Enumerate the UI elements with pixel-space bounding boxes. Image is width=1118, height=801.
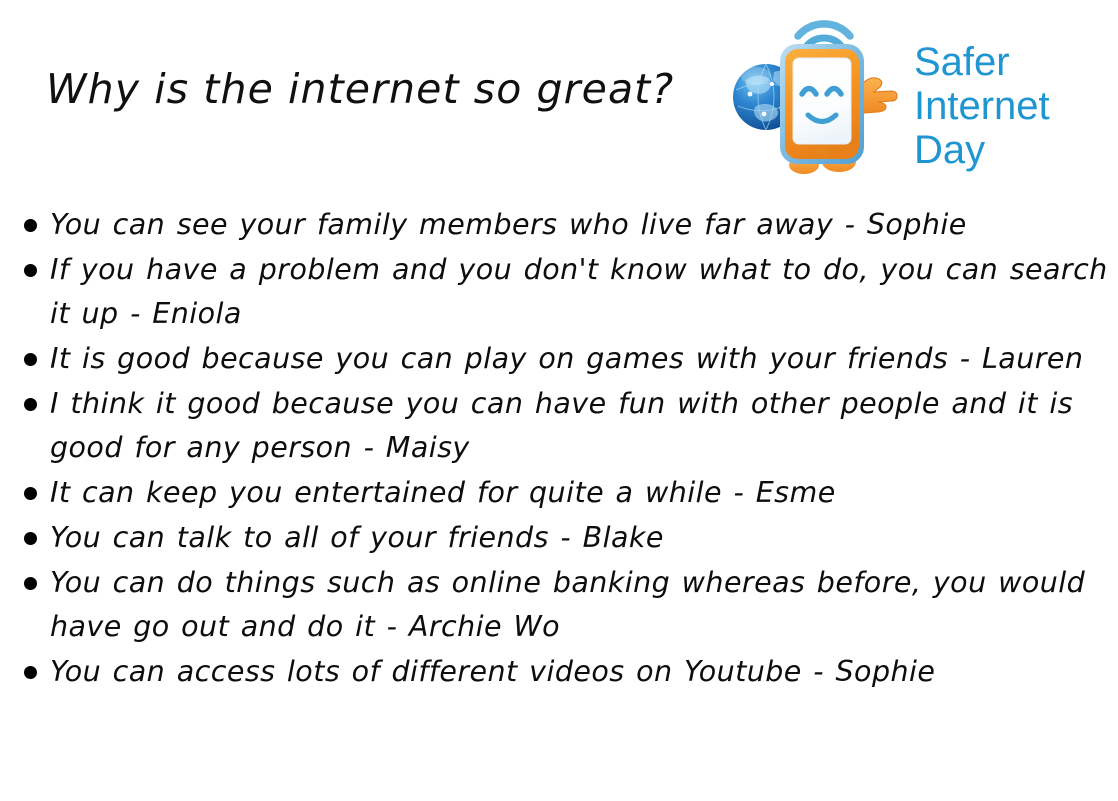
list-item-text: I think it good because you can have fun… [50,382,1110,470]
list-item: You can talk to all of your friends - Bl… [18,516,1110,560]
bullet-marker-icon [24,398,37,411]
page-title: Why is the internet so great? [46,66,674,113]
list-item: You can do things such as online banking… [18,561,1110,649]
list-item-text: You can access lots of different videos … [50,650,1110,694]
presentation-slide: Why is the internet so great? [0,0,1118,801]
list-item-text: You can talk to all of your friends - Bl… [50,516,1110,560]
list-item: It can keep you entertained for quite a … [18,471,1110,515]
smartphone-mascot-icon [726,2,906,182]
list-item: If you have a problem and you don't know… [18,248,1110,336]
bullet-marker-icon [24,353,37,366]
wordmark-line-2: Internet [914,84,1050,128]
list-item-text: If you have a problem and you don't know… [50,248,1110,336]
safer-internet-day-wordmark: Safer Internet Day [914,40,1050,172]
bullet-marker-icon [24,532,37,545]
list-item: You can see your family members who live… [18,203,1110,247]
list-item-text: It can keep you entertained for quite a … [50,471,1110,515]
wordmark-line-3: Day [914,128,1050,172]
list-item: It is good because you can play on games… [18,337,1110,381]
bullet-marker-icon [24,577,37,590]
list-item: I think it good because you can have fun… [18,382,1110,470]
bullet-marker-icon [24,487,37,500]
bullet-list: You can see your family members who live… [18,203,1110,695]
bullet-marker-icon [24,666,37,679]
bullet-marker-icon [24,219,37,232]
list-item-text: It is good because you can play on games… [50,337,1110,381]
wordmark-line-1: Safer [914,40,1050,84]
list-item: You can access lots of different videos … [18,650,1110,694]
list-item-text: You can do things such as online banking… [50,561,1110,649]
list-item-text: You can see your family members who live… [50,203,1110,247]
bullet-marker-icon [24,264,37,277]
safer-internet-day-logo: Safer Internet Day [726,2,1106,198]
